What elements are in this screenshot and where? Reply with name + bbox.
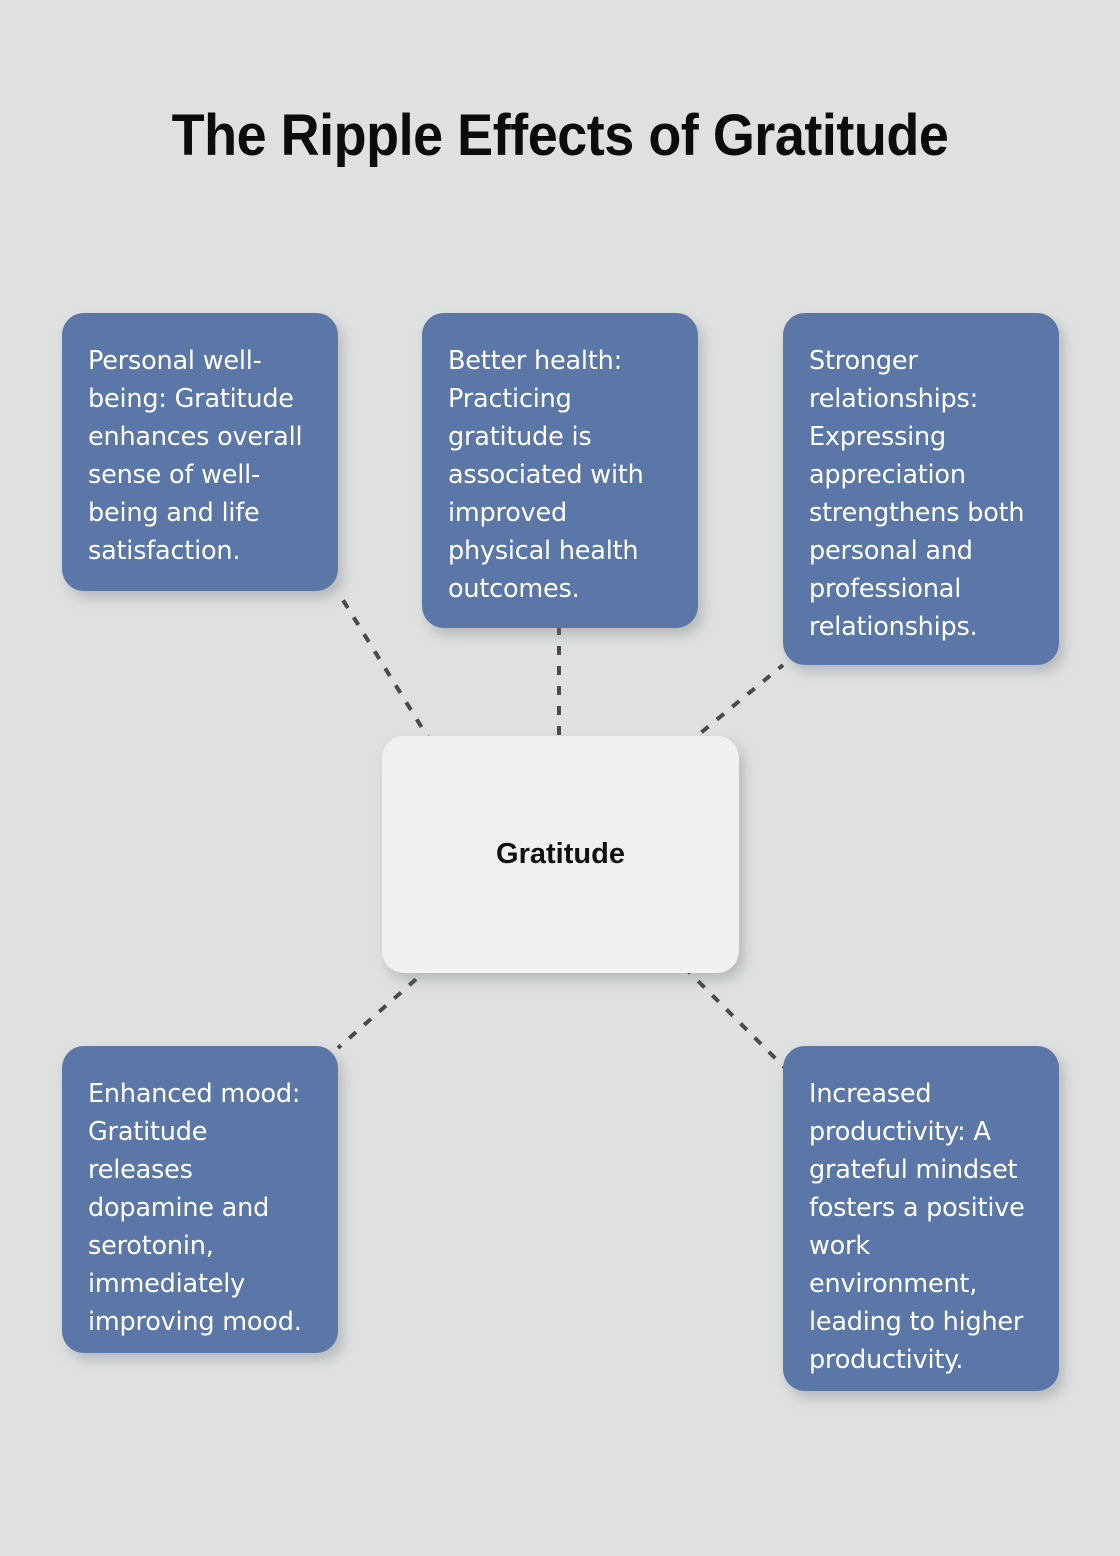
connector-center-to-mood: [338, 966, 431, 1048]
branch-node-mood-text: Enhanced mood: Gratitude releases dopami…: [88, 1076, 312, 1342]
branch-node-productivity[interactable]: Increased productivity: A grateful minds…: [783, 1046, 1059, 1391]
branch-node-mood[interactable]: Enhanced mood: Gratitude releases dopami…: [62, 1046, 338, 1353]
branch-node-productivity-text: Increased productivity: A grateful minds…: [809, 1076, 1033, 1380]
branch-node-health-text: Better health: Practicing gratitude is a…: [448, 343, 672, 609]
branch-node-health[interactable]: Better health: Practicing gratitude is a…: [422, 313, 698, 628]
page-title: The Ripple Effects of Gratitude: [39, 104, 1081, 168]
center-node-label: Gratitude: [496, 838, 625, 871]
connector-center-to-wellbeing: [338, 592, 432, 744]
branch-node-relationships[interactable]: Stronger relationships: Expressing appre…: [783, 313, 1059, 665]
connector-center-to-relationships: [686, 665, 783, 745]
center-node-gratitude[interactable]: Gratitude: [382, 736, 739, 973]
branch-node-wellbeing-text: Personal well-being: Gratitude enhances …: [88, 343, 312, 571]
diagram-canvas: The Ripple Effects of Gratitude Personal…: [0, 0, 1120, 1556]
connector-center-to-productivity: [684, 967, 789, 1072]
branch-node-relationships-text: Stronger relationships: Expressing appre…: [809, 343, 1033, 647]
branch-node-wellbeing[interactable]: Personal well-being: Gratitude enhances …: [62, 313, 338, 591]
